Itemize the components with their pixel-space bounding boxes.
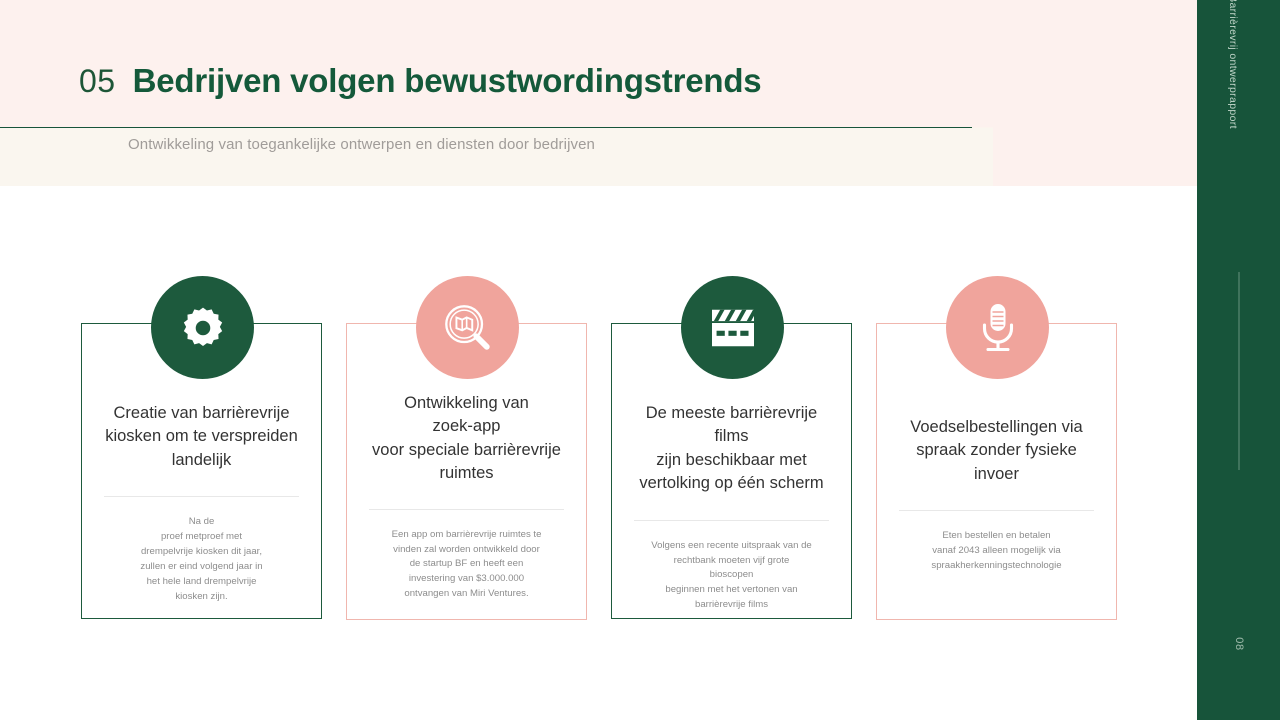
card-heading: Creatie van barrièrevrije kiosken om te … <box>98 402 305 472</box>
card-4-icon-badge <box>946 276 1049 379</box>
cards-container: Creatie van barrièrevrije kiosken om te … <box>0 0 1197 720</box>
page-number: 08 <box>1233 637 1245 650</box>
card-body: Een app om barrièrevrije ruimtes te vind… <box>363 528 570 602</box>
slide-root: 05 Bedrijven volgen bewustwordingstrends… <box>0 0 1280 720</box>
map-search-icon <box>441 301 495 355</box>
sidebar-divider <box>1238 272 1239 470</box>
card-heading: Ontwikkeling van zoek-app voor speciale … <box>363 392 570 486</box>
card-3-icon-badge <box>681 276 784 379</box>
card-body: Eten bestellen en betalen vanaf 2043 all… <box>893 529 1100 574</box>
card-heading: Voedselbestellingen via spraak zonder fy… <box>893 416 1100 486</box>
gear-icon <box>180 305 226 351</box>
microphone-icon <box>978 302 1018 354</box>
card-divider <box>634 520 829 521</box>
card-divider <box>104 496 299 497</box>
card-divider <box>899 510 1094 511</box>
card-2-icon-badge <box>416 276 519 379</box>
card-heading: De meeste barrièrevrije films zijn besch… <box>628 402 835 496</box>
card-divider <box>369 509 564 510</box>
card-body: Na de proef metproef met drempelvrije ki… <box>98 515 305 604</box>
clapperboard-icon <box>709 307 757 349</box>
card-1-icon-badge <box>151 276 254 379</box>
card-body: Volgens een recente uitspraak van de rec… <box>628 539 835 613</box>
right-sidebar: Barrièrevrij ontwerprapport 08 <box>1197 0 1280 720</box>
sidebar-report-label: Barrièrevrij ontwerprapport <box>1227 0 1239 129</box>
